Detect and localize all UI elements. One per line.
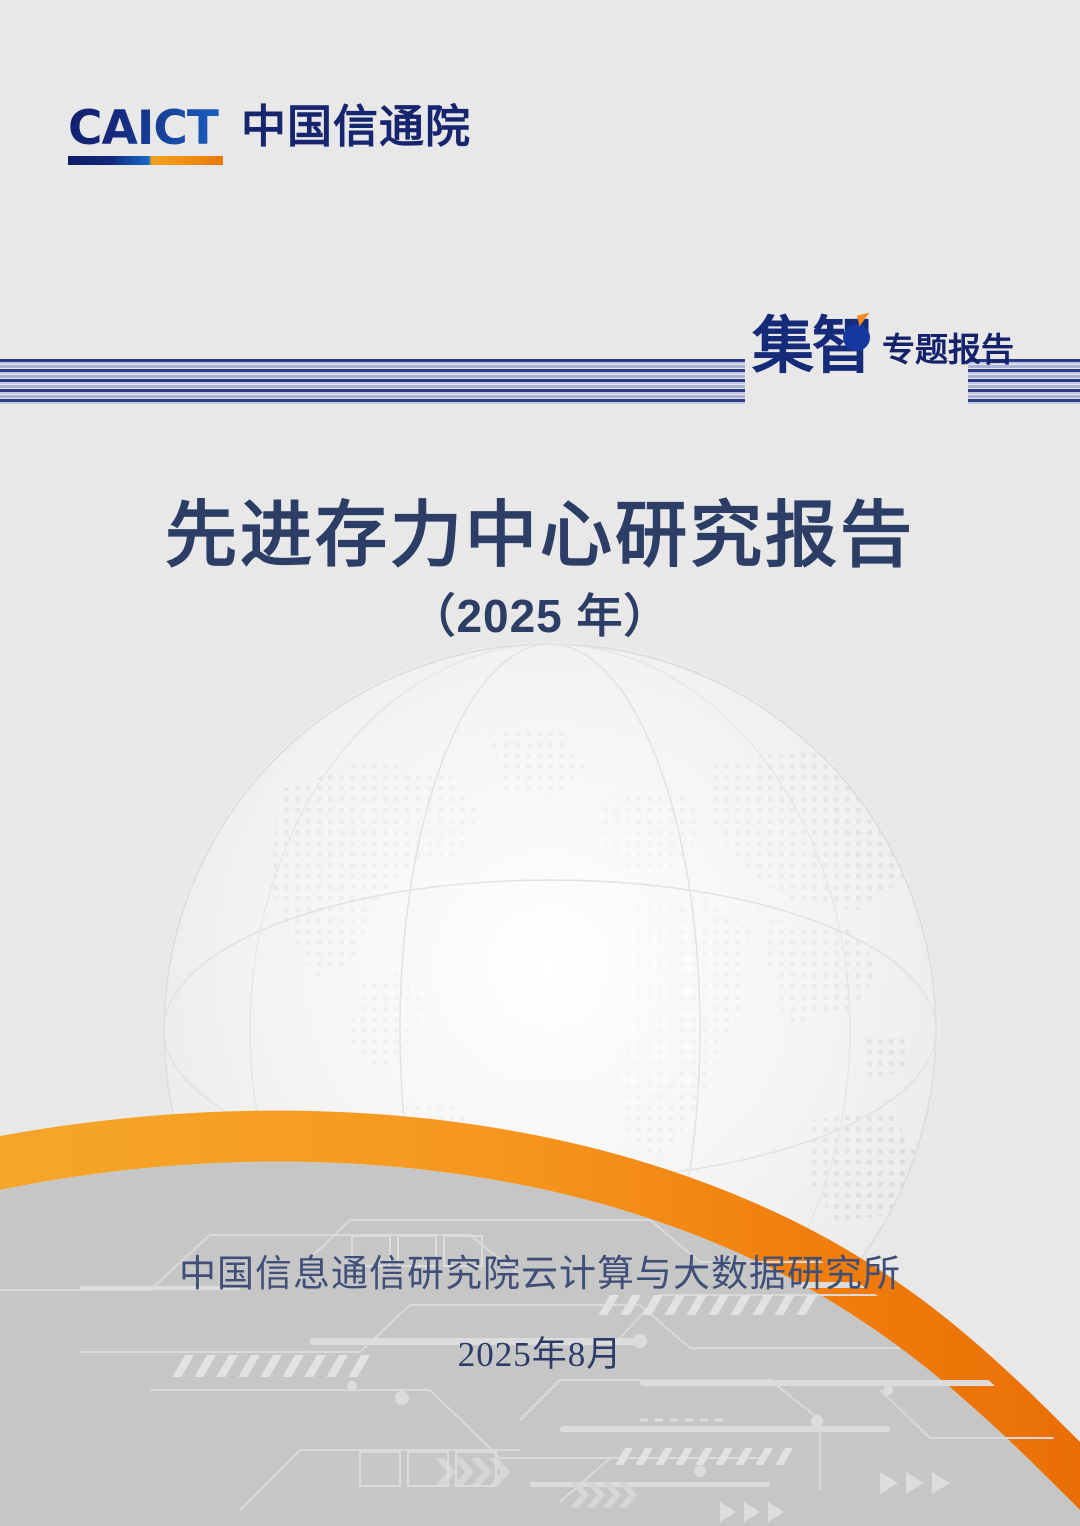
jizhi-spark-icon: [857, 313, 872, 327]
stripe-band-left: [0, 359, 745, 405]
jizhi-series-badge: 集智 专题报告: [752, 318, 1014, 377]
logo-underline-bar: [68, 156, 223, 165]
caict-logo: CAICT 中国信通院: [68, 90, 471, 165]
publication-date: 2025年8月: [0, 1326, 1080, 1377]
caict-logo-text: CAICT: [68, 105, 223, 152]
page-title: 先进存力中心研究报告: [0, 476, 1080, 581]
page-subtitle: （2025 年）: [0, 580, 1080, 646]
jizhi-brand-text: 集智: [752, 318, 872, 377]
caict-wordmark: CAICT: [68, 105, 223, 165]
series-label: 专题报告: [882, 323, 1014, 377]
caict-chinese-name: 中国信通院: [241, 90, 471, 165]
report-cover-page: CAICT 中国信通院 集智 专题报告 先进存力中心研究报告 （2025 年）: [0, 0, 1080, 1526]
jizhi-dot-icon: [843, 324, 870, 351]
bottom-decoration: [0, 1090, 1080, 1526]
publisher-organization: 中国信息通信研究院云计算与大数据研究所: [0, 1243, 1080, 1297]
